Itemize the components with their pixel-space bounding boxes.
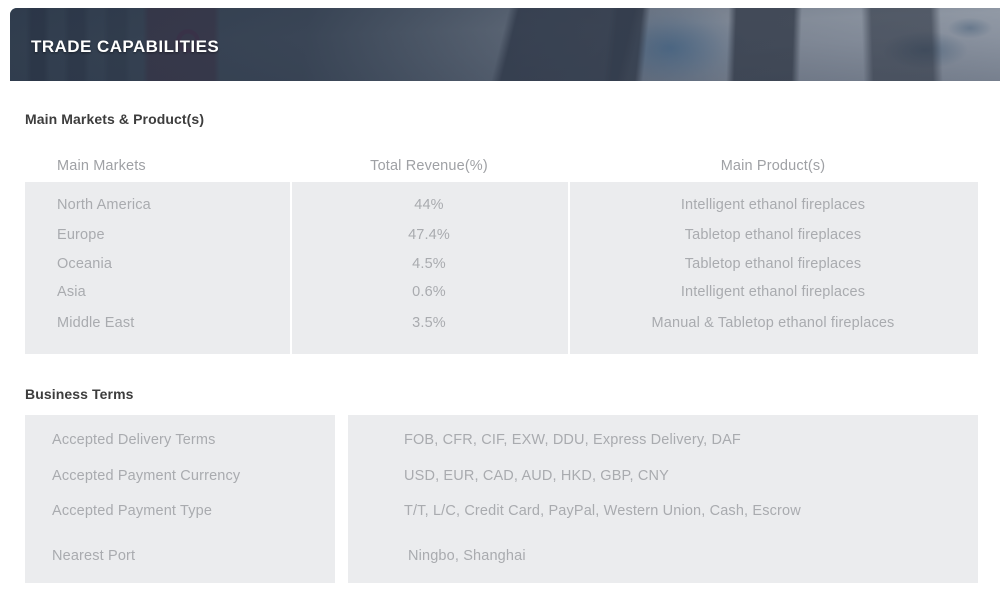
- column-header-main-products: Main Product(s): [568, 158, 978, 174]
- trade-capabilities-page: TRADE CAPABILITIES Main Markets & Produc…: [0, 0, 1000, 595]
- column-header-main-markets: Main Markets: [25, 158, 290, 174]
- business-terms-value-column: FOB, CFR, CIF, EXW, DDU, Express Deliver…: [348, 415, 978, 583]
- cell-market: North America: [25, 197, 290, 213]
- column-header-total-revenue: Total Revenue(%): [290, 158, 568, 174]
- column-divider-1: [290, 182, 292, 354]
- table-row: Europe 47.4% Tabletop ethanol fireplaces: [25, 219, 978, 250]
- cell-market: Europe: [25, 227, 290, 243]
- cell-market: Middle East: [25, 315, 290, 331]
- cell-market: Oceania: [25, 256, 290, 272]
- term-label: Accepted Delivery Terms: [25, 429, 335, 465]
- cell-revenue: 4.5%: [290, 256, 568, 272]
- cell-market: Asia: [25, 284, 290, 300]
- main-markets-table: Main Markets Total Revenue(%) Main Produ…: [25, 150, 978, 354]
- term-value: FOB, CFR, CIF, EXW, DDU, Express Deliver…: [348, 429, 978, 465]
- table-row: Asia 0.6% Intelligent ethanol fireplaces: [25, 278, 978, 306]
- cell-product: Manual & Tabletop ethanol fireplaces: [568, 315, 978, 331]
- table-row: Oceania 4.5% Tabletop ethanol fireplaces: [25, 250, 978, 278]
- table-header-row: Main Markets Total Revenue(%) Main Produ…: [25, 150, 978, 182]
- cell-product: Tabletop ethanol fireplaces: [568, 227, 978, 243]
- term-value: T/T, L/C, Credit Card, PayPal, Western U…: [348, 500, 978, 545]
- cell-revenue: 0.6%: [290, 284, 568, 300]
- term-label: Nearest Port: [25, 545, 335, 581]
- term-label: Accepted Payment Currency: [25, 465, 335, 500]
- main-markets-heading: Main Markets & Product(s): [25, 111, 978, 127]
- cell-revenue: 44%: [290, 197, 568, 213]
- cell-product: Intelligent ethanol fireplaces: [568, 197, 978, 213]
- term-value: USD, EUR, CAD, AUD, HKD, GBP, CNY: [348, 465, 978, 500]
- business-terms-label-column: Accepted Delivery Terms Accepted Payment…: [25, 415, 335, 583]
- table-row: Middle East 3.5% Manual & Tabletop ethan…: [25, 306, 978, 340]
- trade-capabilities-banner: TRADE CAPABILITIES: [10, 8, 1000, 81]
- cell-revenue: 47.4%: [290, 227, 568, 243]
- column-divider-2: [568, 182, 570, 354]
- table-row: North America 44% Intelligent ethanol fi…: [25, 190, 978, 219]
- cell-product: Tabletop ethanol fireplaces: [568, 256, 978, 272]
- term-label: Accepted Payment Type: [25, 500, 335, 545]
- page-title: TRADE CAPABILITIES: [31, 37, 219, 57]
- term-value: Ningbo, Shanghai: [348, 545, 978, 581]
- table-body: North America 44% Intelligent ethanol fi…: [25, 182, 978, 354]
- cell-product: Intelligent ethanol fireplaces: [568, 284, 978, 300]
- business-terms-table: Accepted Delivery Terms Accepted Payment…: [25, 415, 978, 583]
- cell-revenue: 3.5%: [290, 315, 568, 331]
